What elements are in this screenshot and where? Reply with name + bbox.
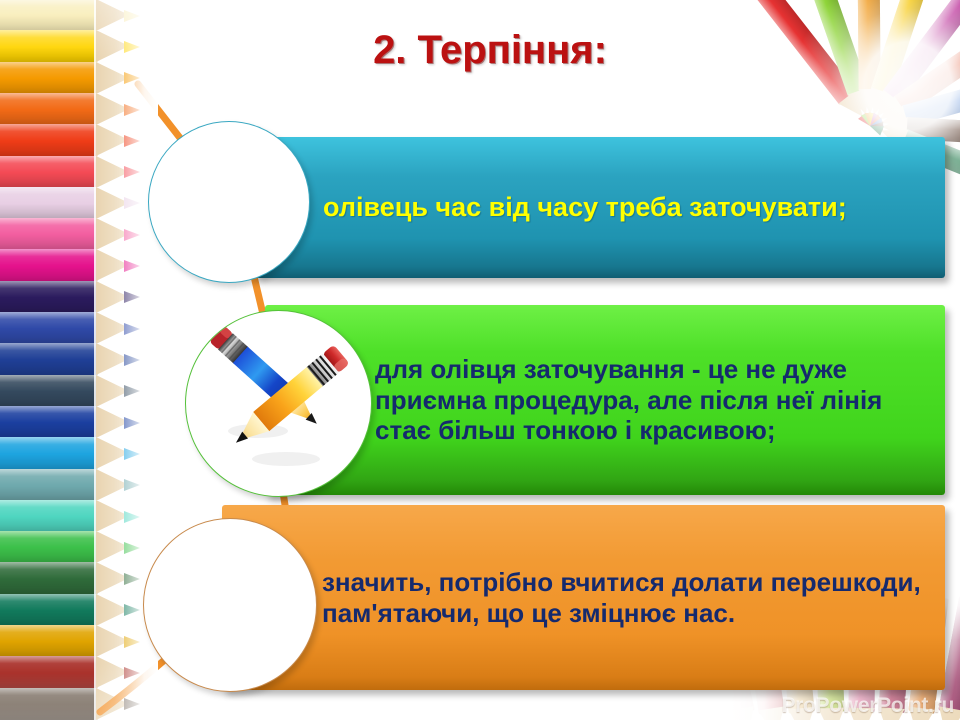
- pencil-left-10: [0, 281, 140, 314]
- pencil-left-17: [0, 500, 140, 533]
- pencil-left-11: [0, 312, 140, 345]
- pencil-left-16: [0, 469, 140, 502]
- pencil-left-15: [0, 437, 140, 470]
- watermark: ProPowerPoint.ru: [781, 694, 954, 718]
- pencil-left-4: [0, 93, 140, 126]
- empty-circle-icon: [144, 519, 316, 691]
- pencil-left-14: [0, 406, 140, 439]
- pencil-left-7: [0, 187, 140, 220]
- pencil-left-1: [0, 0, 140, 32]
- pencil-left-18: [0, 531, 140, 564]
- content-box-1[interactable]: олівець час від часу треба заточувати;: [255, 137, 945, 278]
- pencil-left-5: [0, 124, 140, 157]
- pencil-left-8: [0, 218, 140, 251]
- pencil-left-9: [0, 249, 140, 282]
- pencil-left-23: [0, 688, 140, 720]
- bullet-circle-1[interactable]: [148, 121, 310, 283]
- content-box-3-text: значить, потрібно вчитися долати перешко…: [222, 567, 945, 628]
- pencil-left-22: [0, 656, 140, 689]
- page-title: 2. Терпіння:: [170, 28, 810, 73]
- pencil-left-20: [0, 594, 140, 627]
- pencil-left-21: [0, 625, 140, 658]
- pencil-left-3: [0, 62, 140, 95]
- two-pencils-icon: [186, 311, 371, 496]
- content-box-1-text: олівець час від часу треба заточувати;: [255, 192, 867, 224]
- bullet-circle-2[interactable]: [185, 310, 372, 497]
- bullet-circle-3[interactable]: [143, 518, 317, 692]
- pencil-left-12: [0, 343, 140, 376]
- content-box-3[interactable]: значить, потрібно вчитися долати перешко…: [222, 505, 945, 690]
- slide-root: 2. Терпіння: олівець час від часу треба …: [0, 0, 960, 720]
- pencil-left-6: [0, 156, 140, 189]
- empty-circle-icon: [149, 122, 309, 282]
- pencil-left-13: [0, 375, 140, 408]
- pencil-left-19: [0, 562, 140, 595]
- colored-pencils-left-border: [0, 0, 152, 720]
- pencil-left-2: [0, 30, 140, 63]
